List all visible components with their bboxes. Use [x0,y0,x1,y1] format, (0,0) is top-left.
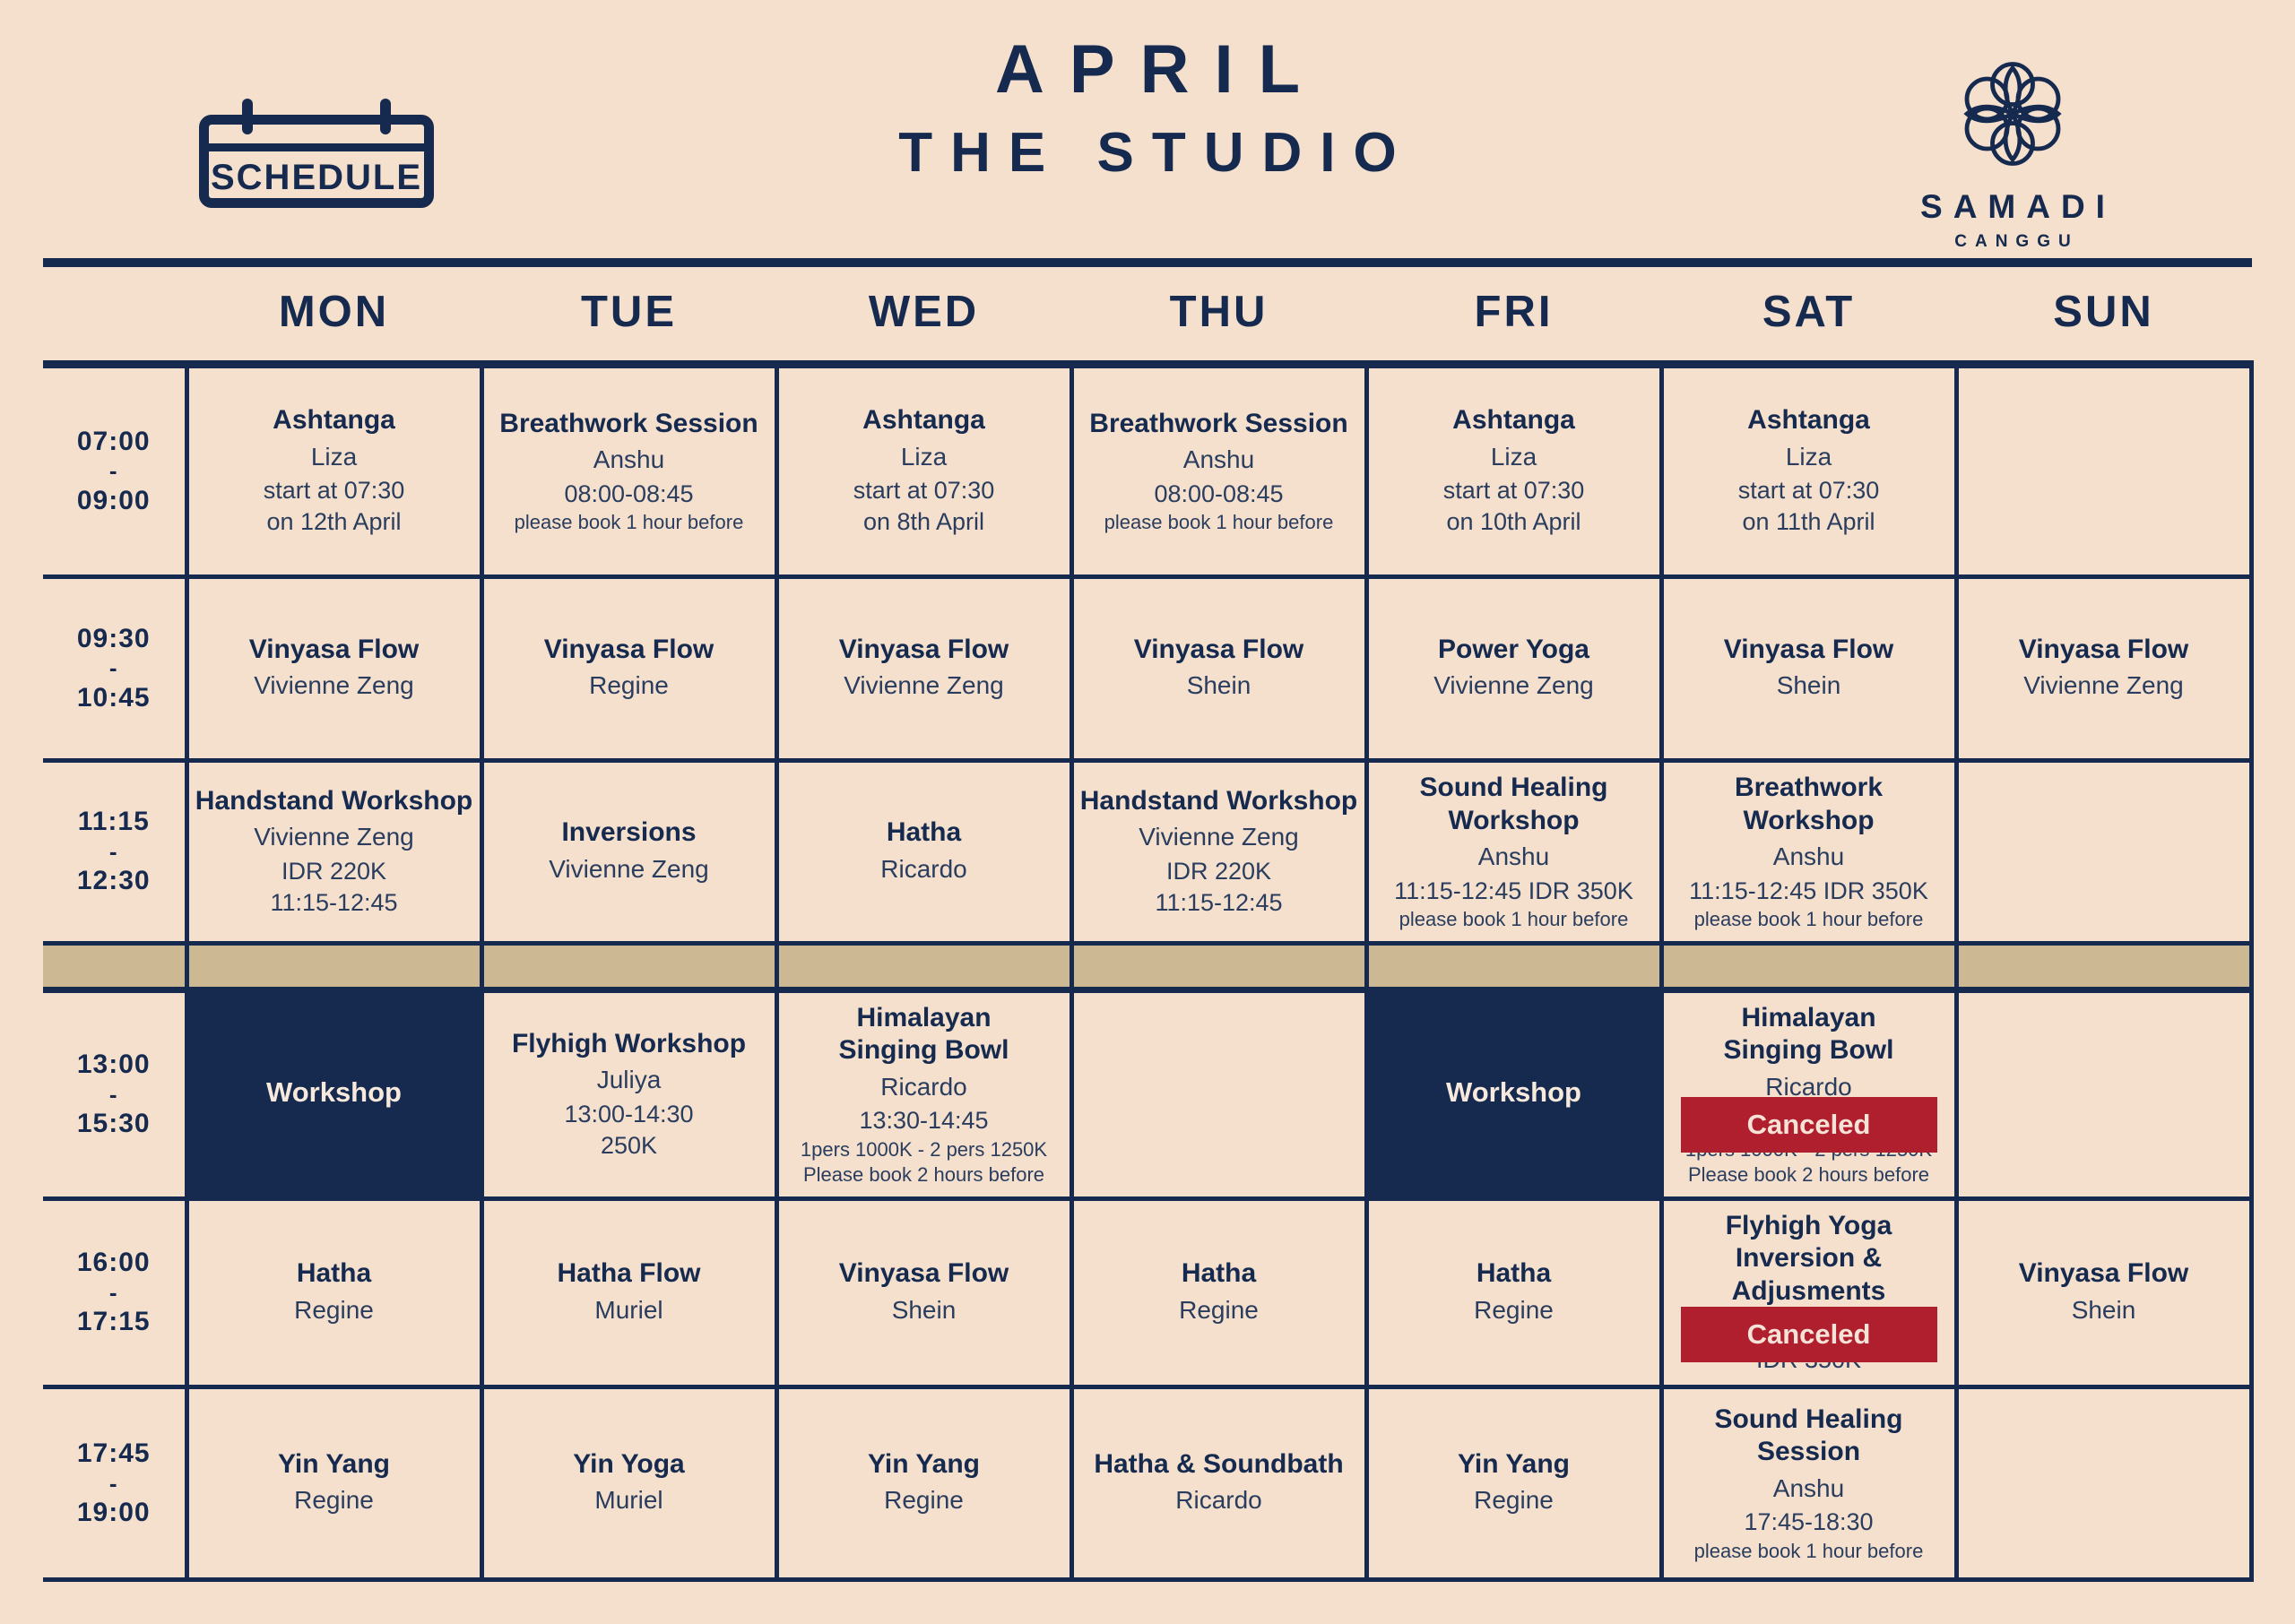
schedule-cell[interactable]: Vinyasa FlowShein [1956,1198,2251,1386]
time-range-dash: - [43,461,185,481]
class-detail: IDR 220K [195,856,474,887]
schedule-cell[interactable]: Vinyasa FlowVivienne Zeng [186,577,481,761]
class-teacher: Regine [195,1294,474,1326]
schedule-cell-empty [1956,989,2251,1198]
class-title: Ashtanga [1374,404,1654,437]
schedule-row: 09:30-10:45Vinyasa FlowVivienne ZengViny… [43,577,2251,761]
schedule-cell-empty [1956,365,2251,577]
class-detail: on 8th April [784,506,1064,538]
class-teacher: Anshu [1669,1473,1949,1505]
class-teacher: Muriel [489,1294,769,1326]
schedule-cell[interactable]: Workshop [1366,989,1661,1198]
class-title: Workshop [1374,1075,1654,1110]
time-slot-label: 17:45-19:00 [43,1387,186,1580]
class-title: Handstand Workshop [1079,785,1359,818]
class-title: Breathwork Workshop [1669,772,1949,837]
schedule-row: 16:00-17:15HathaRegineHatha FlowMurielVi… [43,1198,2251,1386]
class-title: Hatha [1079,1257,1359,1291]
schedule-cell[interactable]: Yin YogaMuriel [481,1387,776,1580]
day-header-wed: WED [776,267,1071,365]
class-title: Ashtanga [784,404,1064,437]
class-title: Flyhigh Workshop [489,1028,769,1061]
class-title: Vinyasa Flow [1964,1257,2244,1291]
class-title: Yin Yang [1374,1448,1654,1481]
class-note: please book 1 hour before [1079,510,1359,535]
time-range-dash: - [43,842,185,862]
class-title: Hatha & Soundbath [1079,1448,1359,1481]
schedule-cell[interactable]: HathaRegine [186,1198,481,1386]
schedule-cell[interactable]: AshtangaLizastart at 07:30on 10th April [1366,365,1661,577]
class-title: Inversions [489,816,769,850]
schedule-cell[interactable]: Yin YangRegine [186,1387,481,1580]
class-teacher: Juliya [489,1064,769,1096]
class-teacher: Liza [195,441,474,473]
page-title: APRIL [880,34,1414,106]
time-range-dash: - [43,1473,185,1494]
table-header: MONTUEWEDTHUFRISATSUN [43,267,2251,365]
class-detail: start at 07:30 [1374,475,1654,506]
class-title: Hatha [195,1257,474,1291]
class-teacher: Anshu [489,444,769,476]
class-teacher: Shein [1964,1294,2244,1326]
class-title: Yin Yoga [489,1448,769,1481]
schedule-cell[interactable]: Yin YangRegine [776,1387,1071,1580]
class-note: please book 1 hour before [1669,907,1949,932]
class-title: Hatha [1374,1257,1654,1291]
schedule-cell[interactable]: Hatha FlowMuriel [481,1198,776,1386]
class-teacher: Regine [489,669,769,702]
class-detail: 11:15-12:45 IDR 350K [1669,876,1949,907]
class-teacher: Anshu [1079,444,1359,476]
header-divider [43,258,2252,267]
class-title: Sound HealingWorkshop [1374,772,1654,837]
schedule-cell[interactable]: Vinyasa FlowShein [1071,577,1366,761]
title-block: APRIL THE STUDIO [880,34,1414,187]
class-detail: 08:00-08:45 [1079,479,1359,510]
class-detail: on 12th April [195,506,474,538]
class-teacher: Vivienne Zeng [195,821,474,853]
class-teacher: Anshu [1669,841,1949,873]
class-title: Vinyasa Flow [784,1257,1064,1291]
page-header: SCHEDULE APRIL THE STUDIO [0,0,2295,240]
day-header-mon: MON [186,267,481,365]
schedule-cell[interactable]: Flyhigh WorkshopJuliya13:00-14:30250K [481,989,776,1198]
class-detail: IDR 220K [1079,856,1359,887]
divider-band-cell [1366,943,1661,989]
class-teacher: Regine [195,1484,474,1516]
schedule-cell[interactable]: Sound HealingWorkshopAnshu11:15-12:45 ID… [1366,761,1661,944]
class-title: Vinyasa Flow [195,634,474,667]
class-teacher: Regine [1079,1294,1359,1326]
day-header-sat: SAT [1661,267,1956,365]
class-teacher: Liza [784,441,1064,473]
schedule-cell[interactable]: Handstand WorkshopVivienne ZengIDR 220K1… [1071,761,1366,944]
schedule-cell[interactable]: HimalayanSinging BowlRicardo13:30-14:451… [776,989,1071,1198]
day-header-fri: FRI [1366,267,1661,365]
class-title: Vinyasa Flow [489,634,769,667]
schedule-cell[interactable]: Breathwork SessionAnshu08:00-08:45please… [481,365,776,577]
day-header-sun: SUN [1956,267,2251,365]
class-teacher: Ricardo [784,1071,1064,1103]
schedule-cell[interactable]: Power YogaVivienne Zeng [1366,577,1661,761]
schedule-grid: MONTUEWEDTHUFRISATSUN 07:00-09:00Ashtang… [43,267,2252,1582]
schedule-badge-label: SCHEDULE [199,158,434,198]
class-detail: 08:00-08:45 [489,479,769,510]
brand-logo: SAMADI CANGGU [1865,47,2161,252]
class-teacher: Regine [1374,1484,1654,1516]
schedule-cell[interactable]: Vinyasa FlowShein [1661,577,1956,761]
schedule-cell[interactable]: Sound Healing SessionAnshu17:45-18:30ple… [1661,1387,1956,1580]
schedule-row: 11:15-12:30Handstand WorkshopVivienne Ze… [43,761,2251,944]
class-title: Ashtanga [1669,404,1949,437]
class-teacher: Shein [1079,669,1359,702]
class-title: Power Yoga [1374,634,1654,667]
schedule-row: 17:45-19:00Yin YangRegineYin YogaMurielY… [43,1387,2251,1580]
class-title: Workshop [195,1075,474,1110]
table-body: 07:00-09:00AshtangaLizastart at 07:30on … [43,365,2251,1580]
class-teacher: Regine [1374,1294,1654,1326]
class-title: Yin Yang [784,1448,1064,1481]
calendar-header-bar [199,143,434,151]
schedule-badge: SCHEDULE [199,99,441,211]
divider-band-cell [1956,943,2251,989]
schedule-cell[interactable]: AshtangaLizastart at 07:30on 11th April [1661,365,1956,577]
class-title: Breathwork Session [489,408,769,441]
class-title: Vinyasa Flow [1079,634,1359,667]
divider-band-cell [1661,943,1956,989]
time-slot-label: 16:00-17:15 [43,1198,186,1386]
class-note: please book 1 hour before [1669,1539,1949,1564]
class-teacher: Ricardo [784,853,1064,885]
schedule-row: 13:00-15:30WorkshopFlyhigh WorkshopJuliy… [43,989,2251,1198]
schedule-cell-empty [1956,761,2251,944]
class-detail: 250K [489,1130,769,1162]
class-detail: start at 07:30 [195,475,474,506]
schedule-cell[interactable]: HimalayanSinging BowlRicardo13:30-14:451… [1661,989,1956,1198]
time-range-dash: - [43,1283,185,1303]
class-detail: on 11th April [1669,506,1949,538]
page-subtitle: THE STUDIO [880,118,1414,188]
schedule-cell[interactable]: Workshop [186,989,481,1198]
class-title: Vinyasa Flow [1964,634,2244,667]
time-slot-label: 11:15-12:30 [43,761,186,944]
schedule-cell[interactable]: Breathwork WorkshopAnshu11:15-12:45 IDR … [1661,761,1956,944]
status-badge-canceled: Canceled [1681,1307,1937,1362]
schedule-cell[interactable]: Vinyasa FlowRegine [481,577,776,761]
class-teacher: Vivienne Zeng [1079,821,1359,853]
class-title: Ashtanga [195,404,474,437]
schedule-cell[interactable]: Vinyasa FlowShein [776,1198,1071,1386]
class-detail: 11:15-12:45 IDR 350K [1374,876,1654,907]
class-note: please book 1 hour before [489,510,769,535]
class-teacher: Vivienne Zeng [1964,669,2244,702]
class-teacher: Muriel [489,1484,769,1516]
time-range-dash: - [43,1084,185,1105]
day-header-row: MONTUEWEDTHUFRISATSUN [43,267,2251,365]
class-title: Breathwork Session [1079,408,1359,441]
time-slot-label: 07:00-09:00 [43,365,186,577]
schedule-cell[interactable]: AshtangaLizastart at 07:30on 8th April [776,365,1071,577]
class-detail: start at 07:30 [1669,475,1949,506]
schedule-cell[interactable]: Flyhigh YogaInversion & AdjusmentsWorksh… [1661,1198,1956,1386]
class-title: Vinyasa Flow [784,634,1064,667]
class-teacher: Shein [1669,669,1949,702]
schedule-row: 07:00-09:00AshtangaLizastart at 07:30on … [43,365,2251,577]
schedule-table: MONTUEWEDTHUFRISATSUN 07:00-09:00Ashtang… [43,267,2254,1582]
schedule-cell-empty [1071,989,1366,1198]
class-teacher: Liza [1669,441,1949,473]
divider-band-cell [776,943,1071,989]
schedule-cell-empty [1956,1387,2251,1580]
class-detail: on 10th April [1374,506,1654,538]
class-detail: 17:45-18:30 [1669,1507,1949,1538]
class-detail: 13:30-14:45 [784,1105,1064,1136]
schedule-cell[interactable]: Breathwork SessionAnshu08:00-08:45please… [1071,365,1366,577]
schedule-cell[interactable]: AshtangaLizastart at 07:30on 12th April [186,365,481,577]
schedule-cell[interactable]: Vinyasa FlowVivienne Zeng [776,577,1071,761]
class-title: HimalayanSinging Bowl [784,1002,1064,1067]
class-teacher: Shein [784,1294,1064,1326]
class-detail: 11:15-12:45 [195,887,474,919]
schedule-cell[interactable]: HathaRegine [1071,1198,1366,1386]
divider-band-cell [186,943,481,989]
day-header-tue: TUE [481,267,776,365]
class-title: Vinyasa Flow [1669,634,1949,667]
divider-band-cell [43,943,186,989]
class-detail: 13:00-14:30 [489,1099,769,1130]
class-title: Hatha [784,816,1064,850]
brand-name: SAMADI [1865,188,2161,226]
class-title: HimalayanSinging Bowl [1669,1002,1949,1067]
class-note: 1pers 1000K - 2 pers 1250KPlease book 2 … [784,1137,1064,1188]
divider-band-cell [1071,943,1366,989]
schedule-cell[interactable]: Hatha & SoundbathRicardo [1071,1387,1366,1580]
class-teacher: Vivienne Zeng [784,669,1064,702]
schedule-cell[interactable]: InversionsVivienne Zeng [481,761,776,944]
time-range-dash: - [43,658,185,678]
divider-band-cell [481,943,776,989]
class-note: please book 1 hour before [1374,907,1654,932]
status-badge-canceled: Canceled [1681,1097,1937,1153]
samadi-flower-logo-icon [1865,47,2161,181]
class-teacher: Liza [1374,441,1654,473]
class-title: Sound Healing Session [1669,1404,1949,1469]
time-slot-label: 09:30-10:45 [43,577,186,761]
schedule-cell[interactable]: HathaRicardo [776,761,1071,944]
class-teacher: Regine [784,1484,1064,1516]
class-title: Hatha Flow [489,1257,769,1291]
schedule-cell[interactable]: Yin YangRegine [1366,1387,1661,1580]
class-teacher: Anshu [1374,841,1654,873]
class-title: Handstand Workshop [195,785,474,818]
class-detail: 11:15-12:45 [1079,887,1359,919]
day-header-thu: THU [1071,267,1366,365]
schedule-cell[interactable]: HathaRegine [1366,1198,1661,1386]
time-column-header [43,267,186,365]
schedule-cell[interactable]: Vinyasa FlowVivienne Zeng [1956,577,2251,761]
schedule-cell[interactable]: Handstand WorkshopVivienne ZengIDR 220K1… [186,761,481,944]
class-detail: start at 07:30 [784,475,1064,506]
time-slot-label: 13:00-15:30 [43,989,186,1198]
class-title: Yin Yang [195,1448,474,1481]
class-teacher: Ricardo [1079,1484,1359,1516]
class-teacher: Vivienne Zeng [195,669,474,702]
brand-location: CANGGU [1865,232,2161,252]
divider-band-row [43,943,2251,989]
class-teacher: Vivienne Zeng [489,853,769,885]
class-teacher: Vivienne Zeng [1374,669,1654,702]
